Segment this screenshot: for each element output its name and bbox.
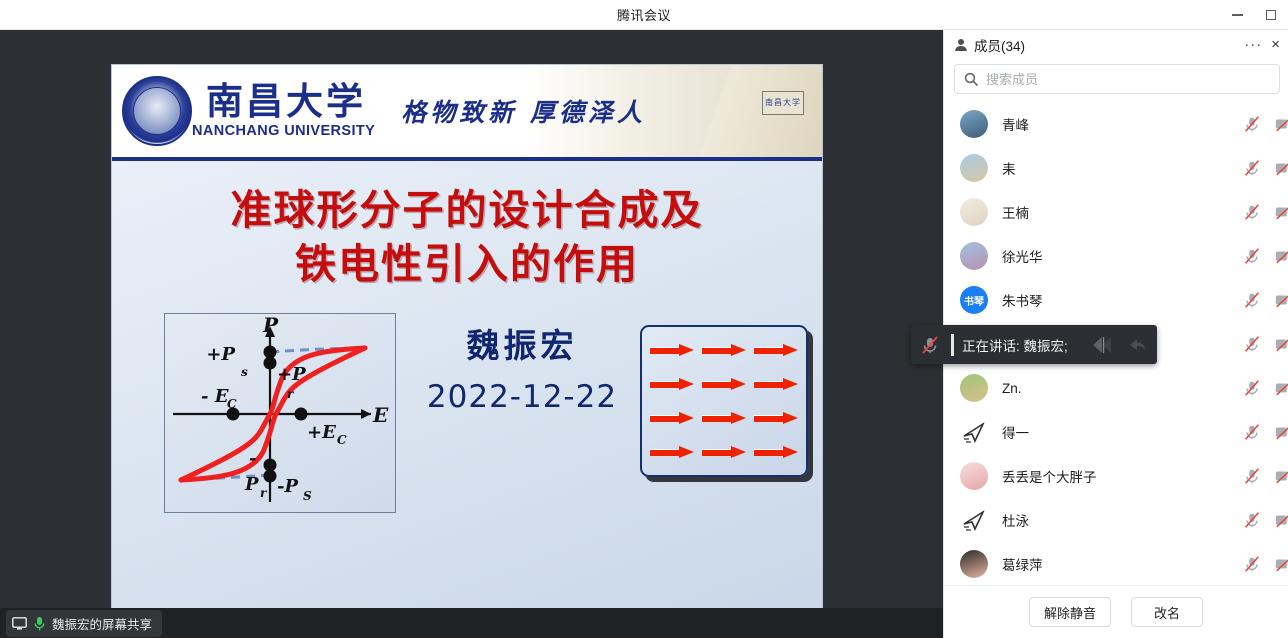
participant-status-icons bbox=[1242, 466, 1282, 486]
gate-plaque-text: 南昌大学 bbox=[762, 91, 804, 115]
participant-name: 丢丢是个大胖子 bbox=[1002, 466, 1097, 486]
search-input[interactable] bbox=[986, 72, 1270, 87]
domain-arrow-icon bbox=[754, 446, 798, 459]
university-crest-icon bbox=[122, 76, 192, 146]
avatar bbox=[960, 110, 988, 138]
participant-status-icons bbox=[1242, 246, 1282, 266]
participant-row[interactable]: 杜泳 bbox=[944, 498, 1288, 542]
university-name-cn: 南昌大学 bbox=[206, 83, 375, 120]
active-speaker-tooltip: 正在讲话: 魏振宏; bbox=[911, 325, 1157, 364]
microphone-muted-icon[interactable] bbox=[1242, 554, 1262, 574]
restore-arrow-icon[interactable] bbox=[1127, 336, 1147, 354]
slide-body: P E +P s +P r - E C +E C - P r bbox=[112, 313, 822, 553]
avatar bbox=[960, 550, 988, 578]
domain-arrow-icon bbox=[702, 378, 746, 391]
avatar bbox=[960, 506, 988, 534]
campus-gate-photo: 南昌大学 bbox=[672, 65, 822, 157]
microphone-muted-icon[interactable] bbox=[1242, 466, 1262, 486]
participant-status-icons bbox=[1242, 422, 1282, 442]
participants-panel-footer: 解除静音 改名 bbox=[944, 585, 1288, 638]
domain-arrow-icon bbox=[650, 344, 694, 357]
participant-status-icons bbox=[1242, 158, 1282, 178]
slide-title-line-1: 准球形分子的设计合成及 bbox=[112, 183, 822, 237]
microphone-muted-icon[interactable] bbox=[1242, 114, 1262, 134]
presenter-name: 魏振宏 bbox=[412, 319, 632, 367]
search-icon bbox=[964, 72, 978, 86]
participant-name: 耒 bbox=[1002, 158, 1016, 178]
svg-text:C: C bbox=[337, 433, 347, 447]
slide-title-line-2: 铁电性引入的作用 bbox=[112, 237, 822, 291]
participant-row[interactable]: 丢丢是个大胖子 bbox=[944, 454, 1288, 498]
screen-share-statusbar: 魏振宏的屏幕共享 bbox=[0, 608, 943, 638]
participant-name: 朱书琴 bbox=[1002, 290, 1043, 310]
participant-status-icons bbox=[1242, 290, 1282, 310]
camera-off-icon[interactable] bbox=[1274, 334, 1288, 354]
hysteresis-loop-figure: P E +P s +P r - E C +E C - P r bbox=[164, 313, 396, 513]
camera-off-icon[interactable] bbox=[1274, 378, 1288, 398]
avatar bbox=[960, 242, 988, 270]
presentation-slide: 南昌大学 NANCHANG UNIVERSITY 格物致新 厚德泽人 南昌大学 … bbox=[111, 64, 823, 618]
participant-row[interactable]: 青峰 bbox=[944, 102, 1288, 146]
camera-off-icon[interactable] bbox=[1274, 510, 1288, 530]
university-name-block: 南昌大学 NANCHANG UNIVERSITY bbox=[192, 83, 375, 139]
domain-arrow-icon bbox=[702, 344, 746, 357]
domain-arrow-icon bbox=[650, 378, 694, 391]
slide-title: 准球形分子的设计合成及 铁电性引入的作用 bbox=[112, 183, 822, 291]
more-options-icon[interactable]: ··· bbox=[1244, 40, 1262, 50]
screen-share-label: 魏振宏的屏幕共享 bbox=[52, 614, 152, 633]
participant-name: 徐光华 bbox=[1002, 246, 1043, 266]
participant-row[interactable]: 得一 bbox=[944, 410, 1288, 454]
avatar bbox=[960, 418, 988, 446]
microphone-muted-icon[interactable] bbox=[1242, 378, 1262, 398]
participant-name: 葛绿萍 bbox=[1002, 554, 1043, 574]
participant-row[interactable]: 葛绿萍 bbox=[944, 542, 1288, 585]
participant-row[interactable]: 耒 bbox=[944, 146, 1288, 190]
domain-arrow-icon bbox=[702, 412, 746, 425]
participant-row[interactable]: Zn. bbox=[944, 366, 1288, 410]
presentation-date: 2022-12-22 bbox=[412, 379, 632, 415]
camera-off-icon[interactable] bbox=[1274, 202, 1288, 222]
domain-arrow-icon bbox=[754, 344, 798, 357]
minimize-icon bbox=[1232, 14, 1243, 16]
microphone-muted-icon bbox=[919, 334, 941, 356]
shared-screen-stage[interactable]: 南昌大学 NANCHANG UNIVERSITY 格物致新 厚德泽人 南昌大学 … bbox=[0, 30, 943, 608]
domain-arrow-icon bbox=[650, 412, 694, 425]
screen-share-indicator[interactable]: 魏振宏的屏幕共享 bbox=[6, 610, 162, 637]
close-panel-icon[interactable]: × bbox=[1271, 40, 1280, 50]
university-motto: 格物致新 厚德泽人 bbox=[401, 93, 646, 129]
person-icon bbox=[954, 38, 968, 52]
domain-arrow-icon bbox=[754, 378, 798, 391]
monitor-icon bbox=[12, 617, 27, 630]
camera-off-icon[interactable] bbox=[1274, 246, 1288, 266]
avatar: 书琴 bbox=[960, 286, 988, 314]
maximize-button[interactable] bbox=[1254, 0, 1288, 30]
svg-text:C: C bbox=[227, 397, 237, 411]
active-speaker-label: 正在讲话: 魏振宏; bbox=[962, 335, 1068, 355]
minimize-button[interactable] bbox=[1220, 0, 1254, 30]
svg-text:+P: +P bbox=[206, 344, 235, 365]
avatar bbox=[960, 154, 988, 182]
camera-off-icon[interactable] bbox=[1274, 158, 1288, 178]
tooltip-divider bbox=[951, 334, 954, 356]
microphone-muted-icon[interactable] bbox=[1242, 290, 1262, 310]
participants-search-wrapper bbox=[944, 60, 1288, 102]
microphone-muted-icon[interactable] bbox=[1242, 158, 1262, 178]
participant-name: 青峰 bbox=[1002, 114, 1029, 134]
domain-arrow-icon bbox=[754, 412, 798, 425]
camera-off-icon[interactable] bbox=[1274, 422, 1288, 442]
participant-status-icons bbox=[1242, 554, 1282, 574]
svg-text:-: - bbox=[249, 448, 256, 469]
svg-text:- E: - E bbox=[201, 386, 229, 407]
hysteresis-loop-svg: P E +P s +P r - E C +E C - P r bbox=[165, 314, 394, 511]
svg-text:-P: -P bbox=[277, 476, 298, 497]
svg-text:E: E bbox=[372, 403, 389, 427]
participant-status-icons bbox=[1242, 378, 1282, 398]
panel-header-actions: ··· × bbox=[1244, 40, 1280, 50]
window-titlebar: 腾讯会议 bbox=[0, 0, 1288, 30]
window-title: 腾讯会议 bbox=[617, 5, 671, 24]
participant-status-icons bbox=[1242, 510, 1282, 530]
participant-status-icons bbox=[1242, 114, 1282, 134]
svg-text:S: S bbox=[303, 489, 312, 503]
microphone-muted-icon[interactable] bbox=[1242, 334, 1262, 354]
avatar bbox=[960, 374, 988, 402]
camera-off-icon[interactable] bbox=[1274, 554, 1288, 574]
microphone-muted-icon[interactable] bbox=[1242, 510, 1262, 530]
participant-status-icons bbox=[1242, 202, 1282, 222]
camera-off-icon[interactable] bbox=[1274, 466, 1288, 486]
window-controls bbox=[1220, 0, 1288, 30]
svg-text:s: s bbox=[241, 365, 248, 379]
participant-name: 杜泳 bbox=[1002, 510, 1029, 530]
domain-alignment-figure bbox=[640, 325, 808, 477]
camera-off-icon[interactable] bbox=[1274, 114, 1288, 134]
microphone-muted-icon[interactable] bbox=[1242, 202, 1262, 222]
university-name-en: NANCHANG UNIVERSITY bbox=[192, 123, 375, 139]
unmute-button[interactable]: 解除静音 bbox=[1029, 597, 1111, 627]
microphone-icon bbox=[34, 616, 45, 631]
participant-name: 得一 bbox=[1002, 422, 1029, 442]
avatar bbox=[960, 198, 988, 226]
avatar bbox=[960, 462, 988, 490]
participant-row[interactable]: 书琴朱书琴 bbox=[944, 278, 1288, 322]
camera-off-icon[interactable] bbox=[1274, 290, 1288, 310]
domain-arrow-icon bbox=[650, 446, 694, 459]
tencent-meeting-window: 腾讯会议 南昌大学 NANCHANG UNIVERSITY 格物致新 厚德泽人 bbox=[0, 0, 1288, 638]
presenter-block: 魏振宏 2022-12-22 bbox=[412, 319, 632, 415]
participant-status-icons bbox=[1242, 334, 1282, 354]
maximize-icon bbox=[1266, 10, 1276, 20]
participants-search-box[interactable] bbox=[954, 64, 1280, 94]
microphone-muted-icon[interactable] bbox=[1242, 246, 1262, 266]
microphone-muted-icon[interactable] bbox=[1242, 422, 1262, 442]
participants-count-label: 成员(34) bbox=[974, 35, 1025, 55]
participant-row[interactable]: 王楠 bbox=[944, 190, 1288, 234]
svg-text:r: r bbox=[260, 486, 268, 500]
participant-name: Zn. bbox=[1002, 381, 1022, 396]
collapse-arrows-icon[interactable] bbox=[1091, 335, 1125, 355]
rename-button[interactable]: 改名 bbox=[1131, 597, 1203, 627]
participant-row[interactable]: 徐光华 bbox=[944, 234, 1288, 278]
slide-banner: 南昌大学 NANCHANG UNIVERSITY 格物致新 厚德泽人 南昌大学 bbox=[112, 65, 822, 161]
participants-panel-header: 成员(34) ··· × bbox=[944, 30, 1288, 60]
svg-text:+P: +P bbox=[277, 364, 306, 385]
svg-text:P: P bbox=[244, 474, 259, 495]
participant-name: 王楠 bbox=[1002, 202, 1029, 222]
svg-text:+E: +E bbox=[307, 422, 336, 443]
domain-arrow-icon bbox=[702, 446, 746, 459]
tooltip-controls[interactable] bbox=[1091, 335, 1157, 355]
svg-text:P: P bbox=[262, 314, 279, 337]
